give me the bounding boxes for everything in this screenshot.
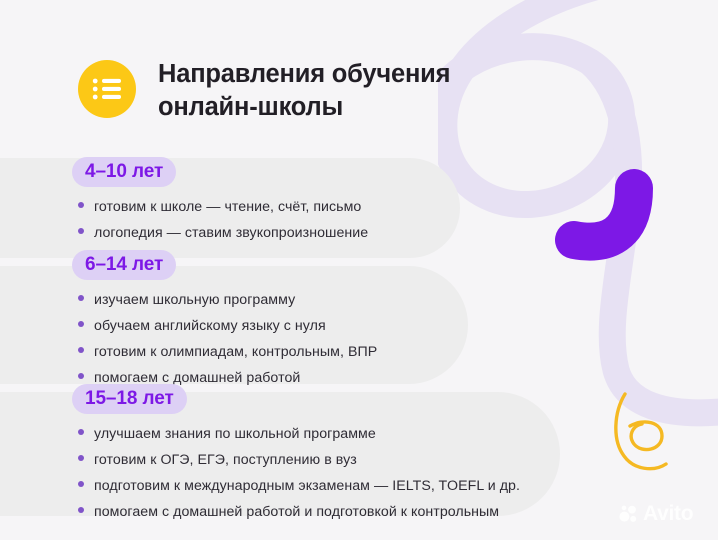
lavender-ribbon-loop <box>440 0 628 205</box>
bullet-dot-icon <box>78 202 84 208</box>
list-item: улучшаем знания по школьной программе <box>72 423 520 445</box>
orange-stroke-outer <box>616 394 666 469</box>
bullet-dot-icon <box>78 295 84 301</box>
promo-slide: { "background_color": "#f6f5f7", "header… <box>0 0 718 540</box>
age-group-6-14: 6–14 лет изучаем школьную программу обуч… <box>72 250 377 389</box>
list-item: готовим к школе — чтение, счёт, письмо <box>72 196 368 218</box>
list-item-label: готовим к ОГЭ, ЕГЭ, поступлению в вуз <box>94 449 357 471</box>
avito-watermark: Avito <box>619 503 693 524</box>
bullet-dot-icon <box>78 429 84 435</box>
list-item: готовим к олимпиадам, контрольным, ВПР <box>72 341 377 363</box>
lavender-ribbon-tail <box>590 62 718 413</box>
benefit-list: улучшаем знания по школьной программе го… <box>72 423 520 523</box>
age-badge: 6–14 лет <box>72 250 176 280</box>
list-item-label: изучаем школьную программу <box>94 289 295 311</box>
bullet-dot-icon <box>78 347 84 353</box>
list-item-label: подготовим к международным экзаменам — I… <box>94 475 520 497</box>
list-item-label: помогаем с домашней работой и подготовко… <box>94 501 499 523</box>
list-item-label: готовим к олимпиадам, контрольным, ВПР <box>94 341 377 363</box>
age-badge: 15–18 лет <box>72 384 187 414</box>
list-item: готовим к ОГЭ, ЕГЭ, поступлению в вуз <box>72 449 520 471</box>
bullet-dot-icon <box>78 481 84 487</box>
list-item-label: улучшаем знания по школьной программе <box>94 423 376 445</box>
benefit-list: изучаем школьную программу обучаем англи… <box>72 289 377 389</box>
page-title: Направления обучения онлайн-школы <box>158 56 450 123</box>
orange-flourish-squiggle <box>608 386 678 482</box>
avito-wordmark: Avito <box>643 503 693 524</box>
bullet-dot-icon <box>78 507 84 513</box>
list-item: подготовим к международным экзаменам — I… <box>72 475 520 497</box>
age-group-4-10: 4–10 лет готовим к школе — чтение, счёт,… <box>72 157 368 244</box>
age-group-15-18: 15–18 лет улучшаем знания по школьной пр… <box>72 384 520 523</box>
purple-hook-shape <box>574 188 634 242</box>
list-item: логопедия — ставим звукопроизношение <box>72 222 368 244</box>
page-header: Направления обучения онлайн-школы <box>78 56 450 123</box>
avito-dots-icon <box>619 504 639 524</box>
bulleted-list-icon <box>78 60 136 118</box>
bullet-dot-icon <box>78 373 84 379</box>
bullet-dot-icon <box>78 228 84 234</box>
list-item: помогаем с домашней работой и подготовко… <box>72 501 520 523</box>
orange-stroke-loop <box>630 422 662 450</box>
list-item-label: готовим к школе — чтение, счёт, письмо <box>94 196 361 218</box>
list-item: обучаем английскому языку с нуля <box>72 315 377 337</box>
age-badge: 4–10 лет <box>72 157 176 187</box>
bullet-dot-icon <box>78 455 84 461</box>
list-item-label: обучаем английскому языку с нуля <box>94 315 326 337</box>
bullet-dot-icon <box>78 321 84 327</box>
list-item: изучаем школьную программу <box>72 289 377 311</box>
benefit-list: готовим к школе — чтение, счёт, письмо л… <box>72 196 368 244</box>
list-item-label: логопедия — ставим звукопроизношение <box>94 222 368 244</box>
